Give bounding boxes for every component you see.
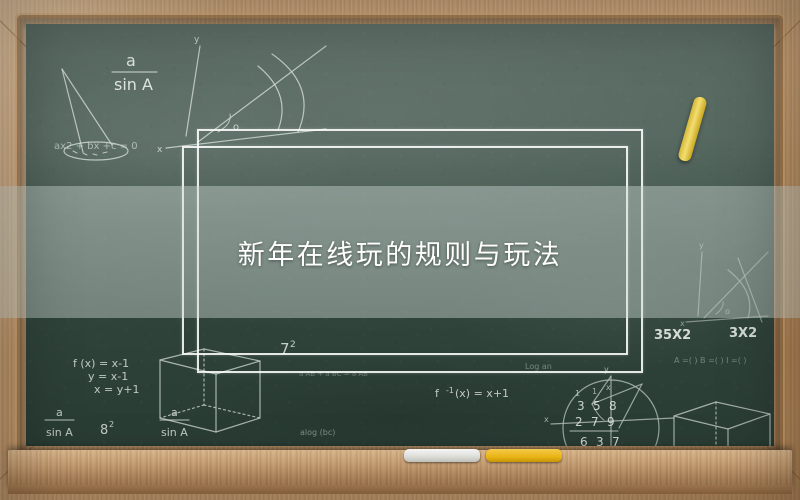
chalk-tray-lip [8,485,792,494]
chalk-tray [8,450,792,490]
white-chalk [404,449,480,462]
chalkboard-banner: a sin A ax2 + bx +c = 0 [0,0,800,500]
yellow-chalk [486,449,562,462]
page-title: 新年在线玩的规则与玩法 [0,186,800,318]
